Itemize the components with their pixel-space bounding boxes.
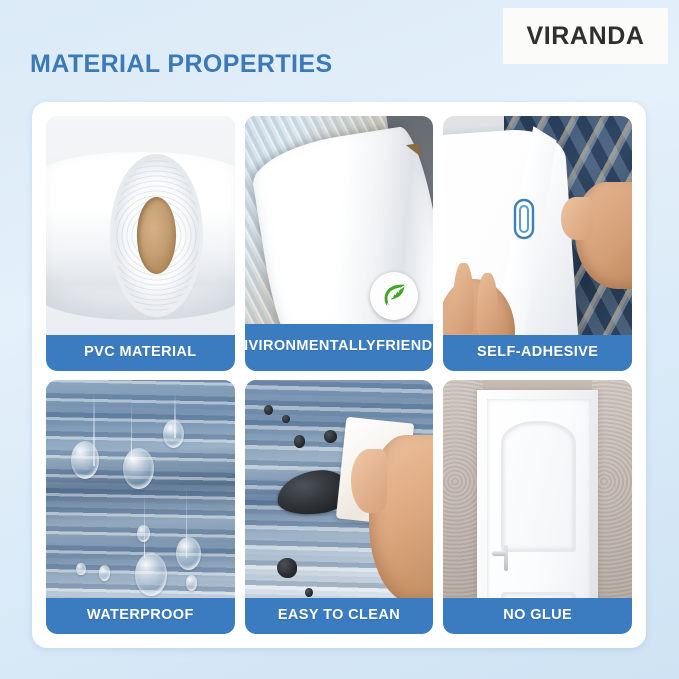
page-title: MATERIAL PROPERTIES bbox=[30, 50, 333, 79]
wall-right bbox=[592, 380, 632, 635]
water-droplet bbox=[176, 537, 201, 570]
feature-label-waterproof: WATERPROOF bbox=[46, 598, 235, 634]
handle-plate bbox=[504, 545, 508, 571]
water-droplet bbox=[99, 565, 110, 580]
dark-stain-speck bbox=[305, 588, 313, 597]
paperclip-icon bbox=[511, 197, 537, 241]
water-droplet bbox=[186, 575, 197, 590]
roll-core-shape bbox=[137, 197, 177, 273]
page-header: MATERIAL PROPERTIES VIRANDA bbox=[0, 0, 679, 102]
paperclip-badge bbox=[511, 197, 537, 241]
label-line-2: FRIENDLY bbox=[376, 339, 433, 355]
label-line-1: ENVIRONMENTALLY bbox=[245, 339, 376, 355]
feature-card-self-adhesive[interactable]: SELF-ADHESIVE bbox=[443, 116, 632, 371]
dark-stain-speck bbox=[277, 558, 298, 578]
feature-card-easy-to-clean[interactable]: EASY TO CLEAN bbox=[245, 380, 434, 635]
water-droplet bbox=[71, 441, 99, 479]
water-droplet bbox=[123, 448, 153, 489]
feature-label-environmentally-friendly: ENVIRONMENTALLY FRIENDLY bbox=[245, 324, 434, 371]
handle-lever bbox=[492, 551, 506, 557]
feature-label-easy-to-clean: EASY TO CLEAN bbox=[245, 598, 434, 634]
leaf-icon bbox=[379, 281, 409, 311]
self-adhesive-photo bbox=[443, 116, 632, 371]
hand-holding-cloth bbox=[369, 435, 433, 603]
door-panel-top bbox=[501, 421, 576, 552]
waterproof-photo bbox=[46, 380, 235, 635]
water-droplet bbox=[163, 420, 184, 448]
door-handle bbox=[492, 545, 508, 571]
dark-stain-speck bbox=[324, 430, 337, 443]
pvc-roll-photo bbox=[46, 116, 235, 371]
brand-name: VIRANDA bbox=[526, 22, 644, 51]
dark-stain-speck bbox=[282, 415, 290, 423]
content-panel: PVC MATERIAL bbox=[32, 102, 646, 648]
water-droplet bbox=[135, 553, 167, 596]
easy-to-clean-photo bbox=[245, 380, 434, 635]
rolled-sheet-corner bbox=[406, 143, 421, 159]
water-droplet bbox=[76, 563, 85, 576]
feature-label-pvc-material: PVC MATERIAL bbox=[46, 335, 235, 371]
feature-card-environmentally-friendly[interactable]: ENVIRONMENTALLY FRIENDLY bbox=[245, 116, 434, 371]
water-droplet bbox=[137, 525, 150, 543]
feature-card-no-glue[interactable]: NO GLUE bbox=[443, 380, 632, 635]
dark-stain-speck bbox=[294, 435, 305, 448]
feature-label-self-adhesive: SELF-ADHESIVE bbox=[443, 335, 632, 371]
no-glue-photo bbox=[443, 380, 632, 635]
dark-stain-speck bbox=[264, 405, 273, 415]
feature-card-waterproof[interactable]: WATERPROOF bbox=[46, 380, 235, 635]
feature-label-no-glue: NO GLUE bbox=[443, 598, 632, 634]
feature-card-pvc-material[interactable]: PVC MATERIAL bbox=[46, 116, 235, 371]
feature-card-grid: PVC MATERIAL bbox=[46, 116, 632, 634]
brand-logo: VIRANDA bbox=[503, 8, 668, 64]
eco-badge bbox=[370, 272, 418, 320]
